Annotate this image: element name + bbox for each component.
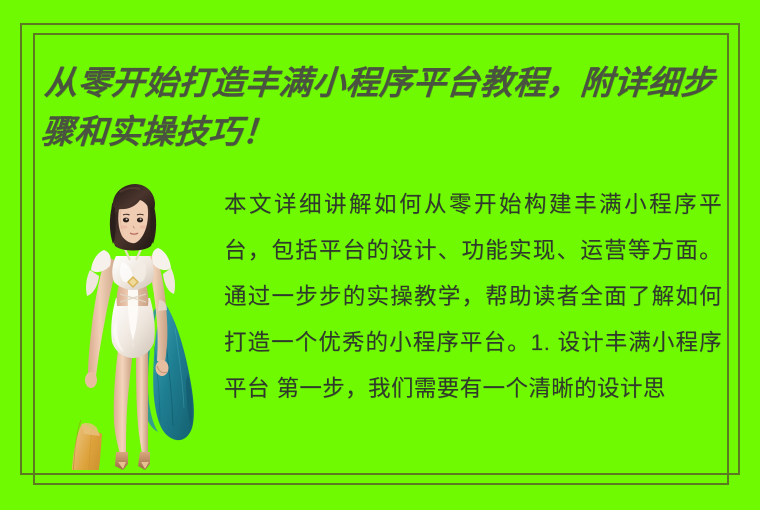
character-head [110, 184, 156, 251]
character-outfit [111, 242, 155, 358]
character-svg [60, 178, 210, 470]
article-body-text: 本文详细讲解如何从零开始构建丰满小程序平台，包括平台的设计、功能实现、运营等方面… [224, 182, 722, 462]
left-orange-drape [68, 420, 102, 470]
article-card: 从零开始打造丰满小程序平台教程，附详细步骤和实操技巧！ [0, 0, 760, 510]
page-title: 从零开始打造丰满小程序平台教程，附详细步骤和实操技巧！ [39, 60, 736, 158]
character-shoes [115, 452, 150, 470]
anime-female-character-illustration [60, 178, 210, 470]
